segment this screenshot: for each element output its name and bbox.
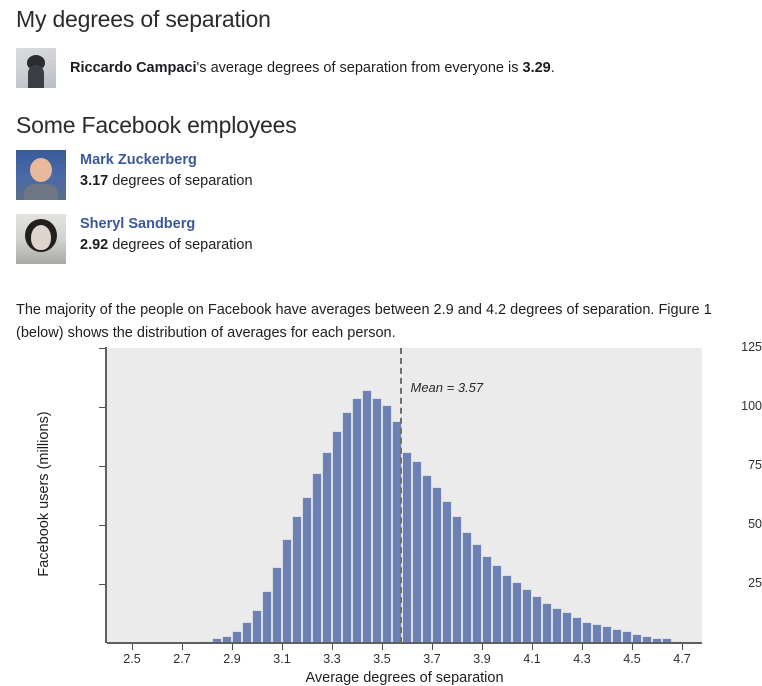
x-axis-tick bbox=[482, 644, 483, 650]
x-axis-tick-label: 3.9 bbox=[473, 652, 490, 666]
employee-value-sheryl: 2.92 bbox=[80, 237, 108, 253]
employee-text-mark: Mark Zuckerberg 3.17 degrees of separati… bbox=[80, 150, 253, 192]
y-axis-tick-label: 75 bbox=[670, 458, 762, 472]
my-degrees-sentence: Riccardo Campaci's average degrees of se… bbox=[70, 48, 555, 88]
x-axis-tick-label: 3.1 bbox=[273, 652, 290, 666]
histogram-bar bbox=[452, 516, 462, 643]
x-axis-tick bbox=[182, 644, 183, 650]
histogram-bar bbox=[362, 390, 372, 643]
my-sentence-middle: 's average degrees of separation from ev… bbox=[197, 60, 523, 76]
histogram-bar bbox=[522, 589, 532, 643]
employee-name-link-mark[interactable]: Mark Zuckerberg bbox=[80, 150, 253, 170]
mean-annotation-label: Mean = 3.57 bbox=[411, 380, 484, 395]
histogram-bar bbox=[382, 405, 392, 643]
y-axis-tick-label: 50 bbox=[670, 517, 762, 531]
y-axis-label: Facebook users (millions) bbox=[36, 374, 52, 614]
my-degrees-text: Riccardo Campaci's average degrees of se… bbox=[70, 48, 555, 88]
histogram-bar bbox=[242, 622, 252, 643]
histogram-bar bbox=[472, 544, 482, 643]
my-sentence-end: . bbox=[551, 60, 555, 76]
histogram-bar bbox=[552, 608, 562, 643]
histogram-bar bbox=[322, 452, 332, 643]
mean-reference-line bbox=[400, 348, 402, 643]
y-axis-tick bbox=[99, 525, 105, 526]
histogram-bar bbox=[262, 591, 272, 643]
x-axis-tick-label: 3.3 bbox=[323, 652, 340, 666]
x-axis-tick bbox=[532, 644, 533, 650]
x-axis-tick bbox=[582, 644, 583, 650]
histogram-bar bbox=[562, 612, 572, 643]
sheryl-avatar[interactable] bbox=[16, 214, 66, 264]
x-axis-tick bbox=[132, 644, 133, 650]
y-axis-tick bbox=[99, 466, 105, 467]
histogram-bar bbox=[292, 516, 302, 643]
histogram-bar bbox=[402, 452, 412, 643]
y-axis-tick bbox=[99, 348, 105, 349]
x-axis-tick-label: 2.9 bbox=[223, 652, 240, 666]
histogram-bar bbox=[352, 398, 362, 643]
x-axis-tick bbox=[682, 644, 683, 650]
y-axis-tick bbox=[99, 584, 105, 585]
histogram-bar bbox=[372, 398, 382, 643]
employee-stat-suffix-mark: degrees of separation bbox=[108, 173, 252, 189]
histogram-chart: 255075100125 2.52.72.93.13.33.53.73.94.1… bbox=[0, 336, 762, 678]
x-axis-tick-label: 3.5 bbox=[373, 652, 390, 666]
histogram-bar bbox=[602, 626, 612, 643]
my-degrees-value: 3.29 bbox=[523, 60, 551, 76]
page-title-my-degrees: My degrees of separation bbox=[16, 6, 271, 33]
y-axis-line bbox=[105, 347, 107, 643]
y-axis-tick-label: 25 bbox=[670, 576, 762, 590]
y-axis-tick bbox=[99, 407, 105, 408]
x-axis-tick-label: 3.7 bbox=[423, 652, 440, 666]
histogram-bar bbox=[442, 501, 452, 643]
x-axis-tick-label: 2.5 bbox=[123, 652, 140, 666]
user-avatar bbox=[16, 48, 56, 88]
histogram-bar bbox=[492, 565, 502, 643]
histogram-bar bbox=[332, 431, 342, 643]
histogram-bar bbox=[482, 556, 492, 643]
x-axis-tick-label: 4.7 bbox=[673, 652, 690, 666]
histogram-bar bbox=[302, 497, 312, 643]
x-axis-tick-label: 4.5 bbox=[623, 652, 640, 666]
employee-row-mark-zuckerberg[interactable]: Mark Zuckerberg 3.17 degrees of separati… bbox=[16, 150, 253, 200]
x-axis-tick bbox=[432, 644, 433, 650]
histogram-bar bbox=[512, 582, 522, 643]
histogram-bar bbox=[572, 617, 582, 643]
employee-stat-mark: 3.17 degrees of separation bbox=[80, 170, 253, 192]
histogram-bar bbox=[542, 603, 552, 643]
employee-stat-sheryl: 2.92 degrees of separation bbox=[80, 234, 253, 256]
histogram-bar bbox=[272, 567, 282, 643]
histogram-bar bbox=[432, 487, 442, 643]
employee-stat-suffix-sheryl: degrees of separation bbox=[108, 237, 252, 253]
histogram-bar bbox=[582, 622, 592, 643]
histogram-bar bbox=[592, 624, 602, 643]
x-axis-tick-label: 4.1 bbox=[523, 652, 540, 666]
x-axis-tick bbox=[332, 644, 333, 650]
histogram-bar bbox=[422, 475, 432, 643]
x-axis-tick bbox=[282, 644, 283, 650]
x-axis-label: Average degrees of separation bbox=[107, 670, 702, 686]
my-degrees-row: Riccardo Campaci's average degrees of se… bbox=[16, 48, 555, 88]
histogram-bar bbox=[252, 610, 262, 643]
employee-name-link-sheryl[interactable]: Sheryl Sandberg bbox=[80, 214, 253, 234]
mark-avatar[interactable] bbox=[16, 150, 66, 200]
histogram-bar bbox=[612, 629, 622, 643]
y-axis-tick-label: 100 bbox=[670, 399, 762, 413]
my-name: Riccardo Campaci bbox=[70, 60, 197, 76]
employee-text-sheryl: Sheryl Sandberg 2.92 degrees of separati… bbox=[80, 214, 253, 256]
histogram-bars bbox=[107, 348, 702, 643]
y-axis-tick-label: 125 bbox=[670, 340, 762, 354]
histogram-bar bbox=[532, 596, 542, 643]
x-axis-tick bbox=[632, 644, 633, 650]
histogram-bar bbox=[462, 532, 472, 643]
employee-row-sheryl-sandberg[interactable]: Sheryl Sandberg 2.92 degrees of separati… bbox=[16, 214, 253, 264]
x-axis-tick bbox=[232, 644, 233, 650]
histogram-bar bbox=[502, 575, 512, 643]
histogram-bar bbox=[342, 412, 352, 643]
histogram-bar bbox=[412, 461, 422, 643]
page-title-some-facebook-employees: Some Facebook employees bbox=[16, 112, 297, 139]
x-axis-line bbox=[107, 642, 702, 644]
x-axis-tick-label: 2.7 bbox=[173, 652, 190, 666]
histogram-bar bbox=[312, 473, 322, 643]
employee-value-mark: 3.17 bbox=[80, 173, 108, 189]
x-axis-tick-label: 4.3 bbox=[573, 652, 590, 666]
histogram-bar bbox=[282, 539, 292, 643]
x-axis-tick bbox=[382, 644, 383, 650]
